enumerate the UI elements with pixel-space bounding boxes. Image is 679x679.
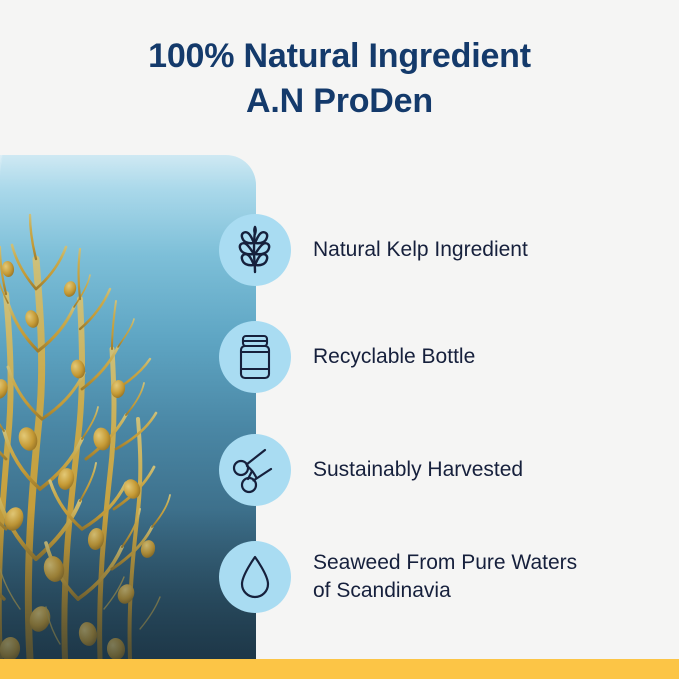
feature-label-waters: Seaweed From Pure Waters of Scandinavia: [313, 549, 663, 605]
feature-label-waters-line2: of Scandinavia: [313, 577, 663, 605]
product-infographic: 100% Natural Ingredient A.N ProDen: [0, 0, 679, 679]
bottom-accent-bar: [0, 659, 679, 679]
feature-label-kelp: Natural Kelp Ingredient: [313, 236, 663, 264]
feature-label-waters-line1: Seaweed From Pure Waters: [313, 549, 663, 577]
feature-row-bottle: Recyclable Bottle: [0, 321, 679, 393]
feature-label-bottle: Recyclable Bottle: [313, 343, 663, 371]
jar-bottle-icon: [219, 321, 291, 393]
feature-label-harvest: Sustainably Harvested: [313, 456, 663, 484]
page-title: 100% Natural Ingredient A.N ProDen: [0, 34, 679, 124]
title-line-1: 100% Natural Ingredient: [0, 34, 679, 79]
feature-row-waters: Seaweed From Pure Waters of Scandinavia: [0, 541, 679, 613]
scissors-icon: [219, 434, 291, 506]
title-line-2: A.N ProDen: [0, 79, 679, 124]
feature-row-harvest: Sustainably Harvested: [0, 434, 679, 506]
water-drop-icon: [219, 541, 291, 613]
feature-row-kelp: Natural Kelp Ingredient: [0, 214, 679, 286]
kelp-leaf-icon: [219, 214, 291, 286]
